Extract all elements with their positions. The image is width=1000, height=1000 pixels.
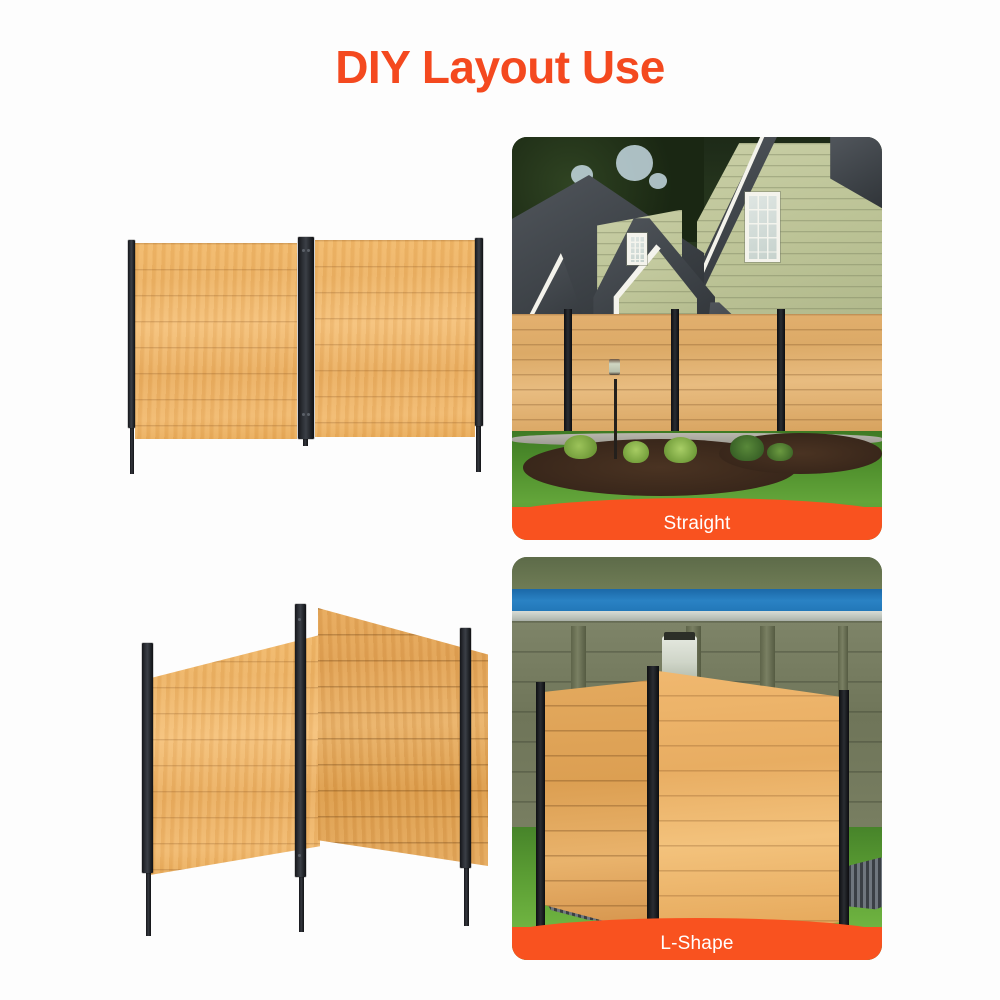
l-shape-fence-photo-card[interactable]: L-Shape — [512, 557, 882, 960]
shrub — [564, 435, 597, 459]
screen-panel-left — [538, 680, 653, 934]
screen-panel-right — [651, 670, 843, 944]
fence-post — [777, 309, 785, 442]
straight-fence-illustration — [110, 220, 500, 485]
fence-panel-right — [315, 240, 475, 437]
l-shape-fence-illustration — [120, 590, 510, 945]
bolt-icon — [298, 854, 301, 857]
window-upper-right — [745, 192, 780, 262]
l-shape-banner-label: L-Shape — [660, 933, 733, 955]
page-title: DIY Layout Use — [0, 40, 1000, 94]
straight-fence-photo-card[interactable]: Straight — [512, 137, 882, 540]
bolt-icon — [302, 413, 305, 416]
bolt-icon — [302, 249, 305, 252]
screen-post-corner — [647, 666, 659, 956]
window-glass — [748, 195, 777, 259]
window-dormer — [627, 233, 647, 265]
l-shape-fence-photo — [512, 557, 882, 960]
shrub — [767, 443, 793, 461]
fence-post-left — [128, 240, 135, 428]
fence-post-left — [142, 643, 153, 873]
fence-panel-left — [135, 243, 297, 439]
straight-banner: Straight — [512, 507, 882, 540]
fence-post-right — [460, 628, 471, 868]
fence-post-right — [475, 238, 483, 426]
shrub — [730, 435, 763, 461]
ground-spike-corner — [299, 875, 304, 932]
fence-post — [564, 309, 572, 440]
l-shape-banner: L-Shape — [512, 927, 882, 960]
lamp-post-pole — [614, 379, 617, 460]
window-glass — [630, 236, 644, 262]
screen-post-right — [839, 690, 849, 940]
screen-post-left — [536, 682, 545, 936]
pool-skimmer-lid — [664, 632, 695, 640]
ground-spike-right — [476, 424, 481, 472]
lamp-post-head — [609, 359, 620, 375]
bolt-icon — [307, 249, 310, 252]
ground-spike-left — [130, 426, 134, 474]
fence-post-corner — [295, 604, 306, 877]
shrub — [623, 441, 649, 463]
straight-banner-label: Straight — [663, 513, 730, 535]
bolt-icon — [307, 413, 310, 416]
bolt-icon — [298, 618, 301, 621]
fence-post-center — [298, 237, 314, 439]
wood-fence — [512, 314, 882, 435]
shrub — [664, 437, 697, 463]
fence-post — [671, 309, 679, 444]
ground-spike-left — [146, 871, 151, 936]
ground-spike-right — [464, 866, 469, 926]
pool-wall-brace — [571, 626, 586, 699]
straight-fence-photo — [512, 137, 882, 540]
background-hedge — [512, 557, 882, 589]
